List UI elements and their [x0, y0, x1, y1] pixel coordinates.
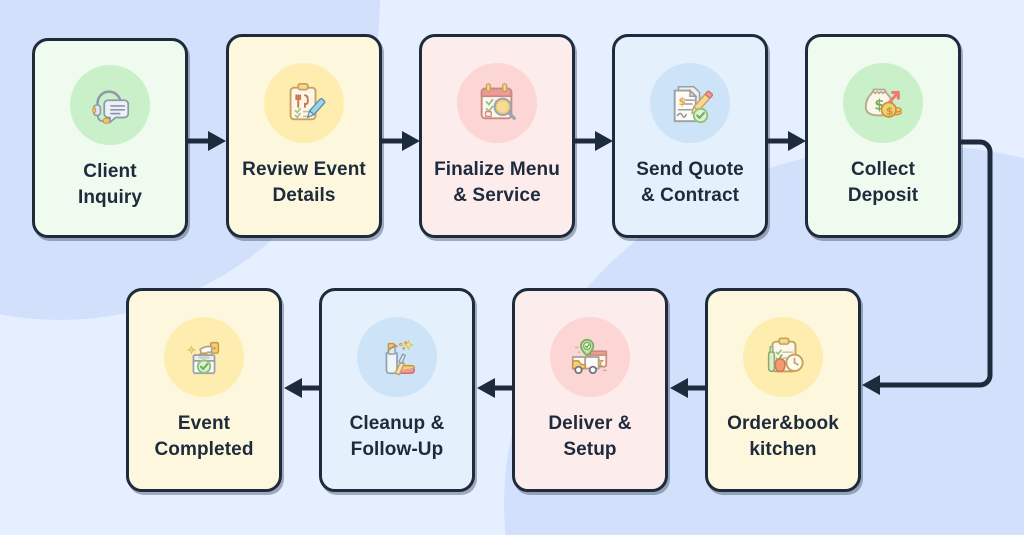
calendar-magnifier-icon: [474, 80, 520, 126]
step-card-client-inquiry[interactable]: Client Inquiry: [32, 38, 188, 238]
arrow-7-to-8: [475, 375, 515, 401]
step-label: Send Quote & Contract: [630, 157, 750, 209]
step-label: Order&book kitchen: [721, 411, 845, 463]
step-card-deliver-setup[interactable]: Deliver & Setup: [512, 288, 668, 492]
svg-text:$: $: [886, 106, 893, 118]
step-card-order-book-kitchen[interactable]: Order&book kitchen: [705, 288, 861, 492]
step-card-finalize-menu-service[interactable]: Finalize Menu & Service: [419, 34, 575, 238]
loop-connector-collect-deposit-to-order-book-kitchen: [958, 130, 1024, 400]
arrow-2-to-3: [382, 128, 422, 154]
contract-pencil-check-icon: $: [667, 80, 713, 126]
step-card-send-quote-contract[interactable]: $ Send Quote & Contract: [612, 34, 768, 238]
step-card-review-event-details[interactable]: Review Event Details: [226, 34, 382, 238]
step-card-event-completed[interactable]: Event Completed: [126, 288, 282, 492]
ballot-box-check-icon-circle: [164, 317, 244, 397]
contract-pencil-check-icon-circle: $: [650, 63, 730, 143]
arrow-6-to-7: [668, 375, 708, 401]
calendar-magnifier-icon-circle: [457, 63, 537, 143]
delivery-truck-pin-icon: [567, 334, 613, 380]
arrow-8-to-9: [282, 375, 322, 401]
step-label: Review Event Details: [236, 157, 372, 209]
step-label: Collect Deposit: [842, 157, 924, 209]
step-label: Finalize Menu & Service: [428, 157, 566, 209]
ballot-box-check-icon: [181, 334, 227, 380]
arrow-4-to-5: [768, 128, 808, 154]
money-bag-coins-icon-circle: $ $: [843, 63, 923, 143]
flowchart-canvas: Client Inquiry: [0, 0, 1024, 535]
money-bag-coins-icon: $ $: [860, 80, 906, 126]
arrow-3-to-4: [575, 128, 615, 154]
clipboard-cutlery-pencil-icon-circle: [264, 63, 344, 143]
spray-bottle-broom-icon: [374, 334, 420, 380]
spray-bottle-broom-icon-circle: [357, 317, 437, 397]
delivery-truck-pin-icon-circle: [550, 317, 630, 397]
checklist-clock-food-icon: [760, 334, 806, 380]
step-label: Cleanup & Follow-Up: [344, 411, 451, 463]
step-label: Client Inquiry: [72, 159, 148, 211]
svg-text:$: $: [679, 96, 686, 108]
step-card-cleanup-follow-up[interactable]: Cleanup & Follow-Up: [319, 288, 475, 492]
clipboard-cutlery-pencil-icon: [281, 80, 327, 126]
step-label: Event Completed: [148, 411, 259, 463]
headset-chat-icon: [87, 82, 133, 128]
headset-chat-icon-circle: [70, 65, 150, 145]
arrow-1-to-2: [188, 128, 228, 154]
checklist-clock-food-icon-circle: [743, 317, 823, 397]
step-label: Deliver & Setup: [542, 411, 637, 463]
step-card-collect-deposit[interactable]: $ $ Collect Deposit: [805, 34, 961, 238]
